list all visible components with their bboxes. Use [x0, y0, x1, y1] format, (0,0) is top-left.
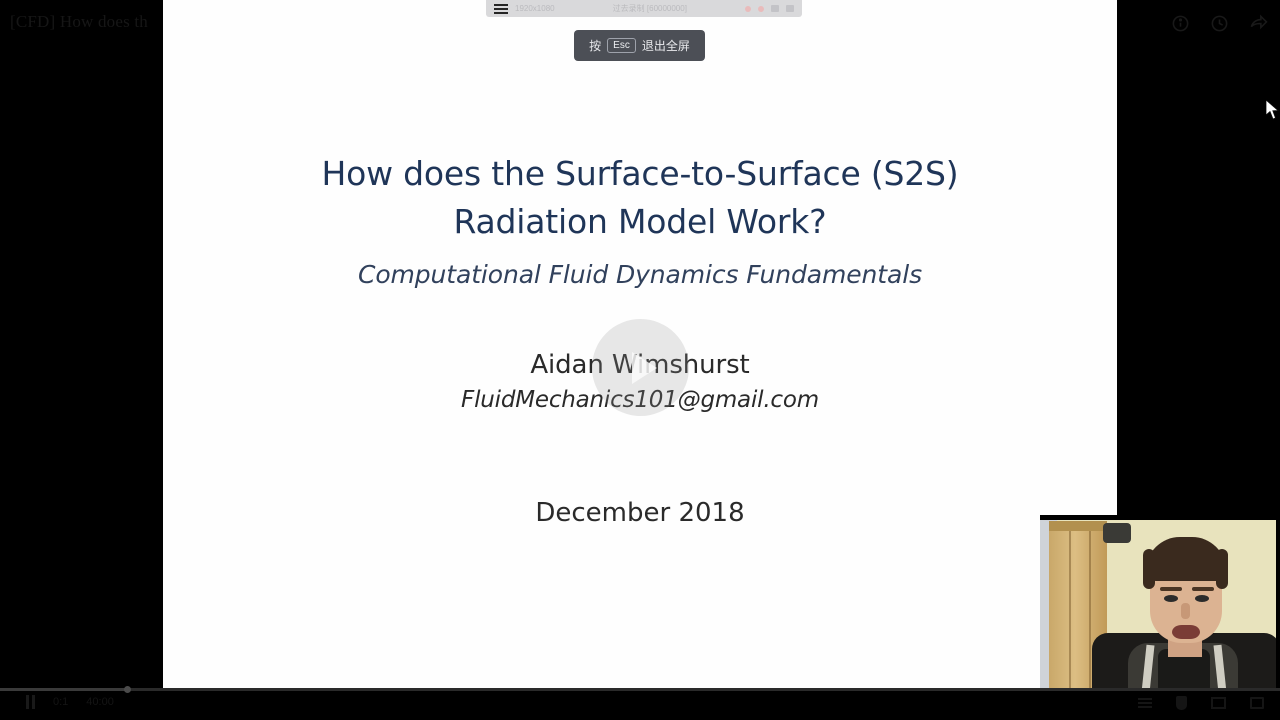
webcam-hair-side-left [1143, 549, 1155, 589]
video-top-right-controls [1171, 14, 1268, 33]
mouse-cursor [1266, 100, 1280, 120]
wardrobe-seam-1 [1069, 529, 1071, 695]
player-right-controls [1138, 696, 1264, 710]
record-dot-icon[interactable] [745, 6, 751, 12]
webcam-letterbox-right [1276, 515, 1280, 695]
slide-title: How does the Surface-to-Surface (S2S) Ra… [163, 150, 1117, 246]
slide-date-block: December 2018 [163, 498, 1117, 528]
webcam-hair-side-right [1216, 549, 1228, 589]
wardrobe-seam-2 [1089, 529, 1091, 695]
play-button-overlay[interactable] [592, 319, 689, 416]
webcam-nose [1181, 603, 1190, 619]
tooltip-prefix: 按 [589, 37, 601, 54]
webcam-shelf-object [1103, 523, 1131, 543]
current-time-label: 0:1 [53, 696, 68, 708]
player-left-controls: 0:1 40:00 [26, 695, 114, 709]
webcam-eye-left [1164, 595, 1178, 602]
page-title: [CFD] How does th [10, 12, 148, 32]
pause-icon[interactable] [26, 695, 35, 709]
quality-icon[interactable] [1138, 698, 1152, 708]
exit-fullscreen-tooltip: 按 Esc 退出全屏 [574, 30, 705, 61]
duration-label: 40:00 [86, 696, 114, 708]
webcam-overlay[interactable] [1040, 515, 1280, 695]
slide-title-block: How does the Surface-to-Surface (S2S) Ra… [163, 150, 1117, 289]
webcam-eyebrow-left [1160, 587, 1182, 591]
player-control-bar[interactable]: 0:1 40:00 [0, 688, 1280, 720]
slide-date: December 2018 [163, 498, 1117, 528]
lightning-icon[interactable] [786, 5, 794, 12]
tooltip-suffix: 退出全屏 [642, 37, 690, 54]
clock-icon[interactable] [1210, 14, 1229, 33]
stop-dot-icon[interactable] [758, 6, 764, 12]
webcam-wardrobe-top [1049, 521, 1107, 531]
share-icon[interactable] [1249, 14, 1268, 33]
recorder-toolbar[interactable]: 1920x1080 过去录制 [60000000] [486, 0, 802, 17]
esc-key-badge: Esc [607, 38, 636, 53]
camera-icon[interactable] [771, 5, 779, 12]
webcam-letterbox-top [1040, 515, 1280, 520]
progress-bar-track[interactable] [0, 688, 1280, 691]
webcam-eyebrow-right [1192, 587, 1214, 591]
fullscreen-icon[interactable] [1250, 697, 1264, 709]
video-player-stage: [CFD] How does th How does the Surface-t… [0, 0, 1280, 720]
info-icon[interactable] [1171, 14, 1190, 33]
slide-subtitle: Computational Fluid Dynamics Fundamental… [163, 260, 1117, 289]
play-icon [632, 352, 657, 384]
progress-bar-handle[interactable] [124, 686, 131, 693]
webcam-mouth [1172, 625, 1200, 639]
hamburger-icon[interactable] [494, 4, 508, 14]
resolution-label: 1920x1080 [515, 4, 555, 13]
settings-icon[interactable] [1176, 696, 1187, 710]
theater-icon[interactable] [1211, 697, 1226, 709]
webcam-eye-right [1195, 595, 1209, 602]
progress-bar-fill [0, 688, 128, 691]
recording-stats-label: 过去录制 [60000000] [613, 3, 687, 14]
